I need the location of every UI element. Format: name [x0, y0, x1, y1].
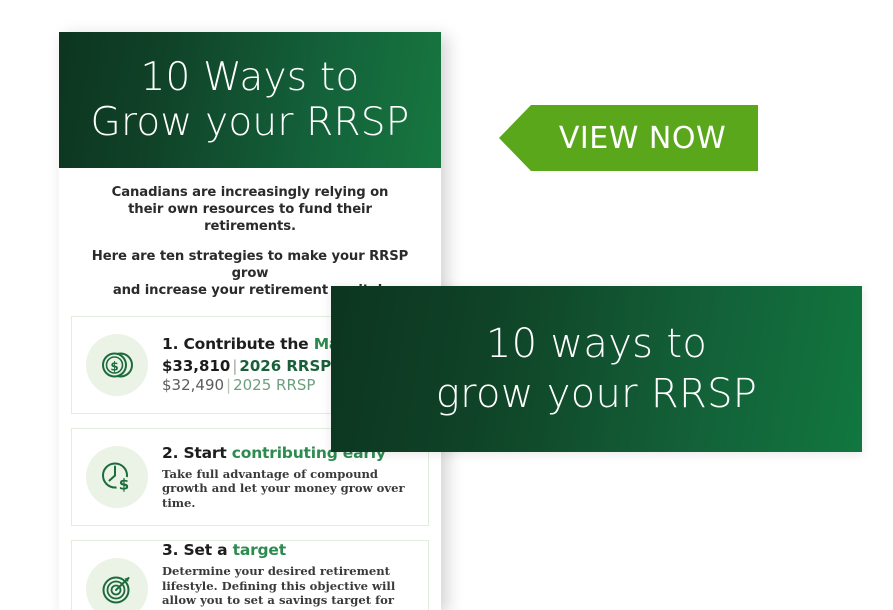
clock-dollar-icon: $	[86, 446, 148, 508]
infographic-header-title: 10 Ways to Grow your RRSP	[91, 55, 410, 145]
svg-text:$: $	[110, 360, 118, 374]
limit-amount-2025: $32,490	[162, 376, 224, 394]
infographic-intro: Canadians are increasingly relying on th…	[59, 168, 441, 305]
tip-card-1-title-plain: 1. Contribute the	[162, 335, 314, 353]
tip-card-2-body: 2. Start contributing early Take full ad…	[162, 444, 418, 510]
coins-dollar-icon: $	[86, 334, 148, 396]
limit-year-2026: 2026 RRSP	[239, 357, 331, 375]
target-arrow-icon	[86, 558, 148, 610]
svg-text:$: $	[119, 476, 129, 494]
header-title-line-2: Grow your RRSP	[91, 100, 410, 145]
view-now-button[interactable]: VIEW NOW	[499, 105, 758, 171]
overlay-title-line-2: grow your RRSP	[436, 369, 757, 419]
tip-card-3-title-plain: 3. Set a	[162, 541, 233, 559]
intro-p1-line-1: Canadians are increasingly relying on	[81, 184, 419, 201]
limit-amount-2026: $33,810	[162, 357, 230, 375]
view-now-button-label: VIEW NOW	[559, 121, 726, 156]
tip-card-3-title-accent: target	[233, 541, 286, 559]
overlay-title-line-1: 10 ways to	[436, 319, 757, 369]
tip-card-3-description: Determine your desired retirement lifest…	[162, 564, 418, 610]
intro-paragraph-1: Canadians are increasingly relying on th…	[81, 184, 419, 235]
infographic-header: 10 Ways to Grow your RRSP	[59, 32, 441, 168]
page-canvas: 10 Ways to Grow your RRSP Canadians are …	[0, 0, 893, 610]
tip-card-3-title: 3. Set a target	[162, 541, 418, 560]
limit-separator-2025: |	[224, 376, 233, 394]
intro-p1-line-2: their own resources to fund their retire…	[81, 201, 419, 235]
tip-card-2-title-plain: 2. Start	[162, 444, 232, 462]
tip-card-3[interactable]: 3. Set a target Determine your desired r…	[71, 540, 429, 610]
intro-p2-line-1: Here are ten strategies to make your RRS…	[81, 248, 419, 282]
tip-card-2-description: Take full advantage of compound growth a…	[162, 467, 418, 510]
overlay-banner-title: 10 ways to grow your RRSP	[436, 319, 757, 419]
limit-year-2025: 2025 RRSP	[233, 376, 315, 394]
tip-card-3-body: 3. Set a target Determine your desired r…	[162, 541, 418, 610]
header-title-line-1: 10 Ways to	[91, 55, 410, 100]
overlay-title-banner: 10 ways to grow your RRSP	[331, 286, 862, 452]
